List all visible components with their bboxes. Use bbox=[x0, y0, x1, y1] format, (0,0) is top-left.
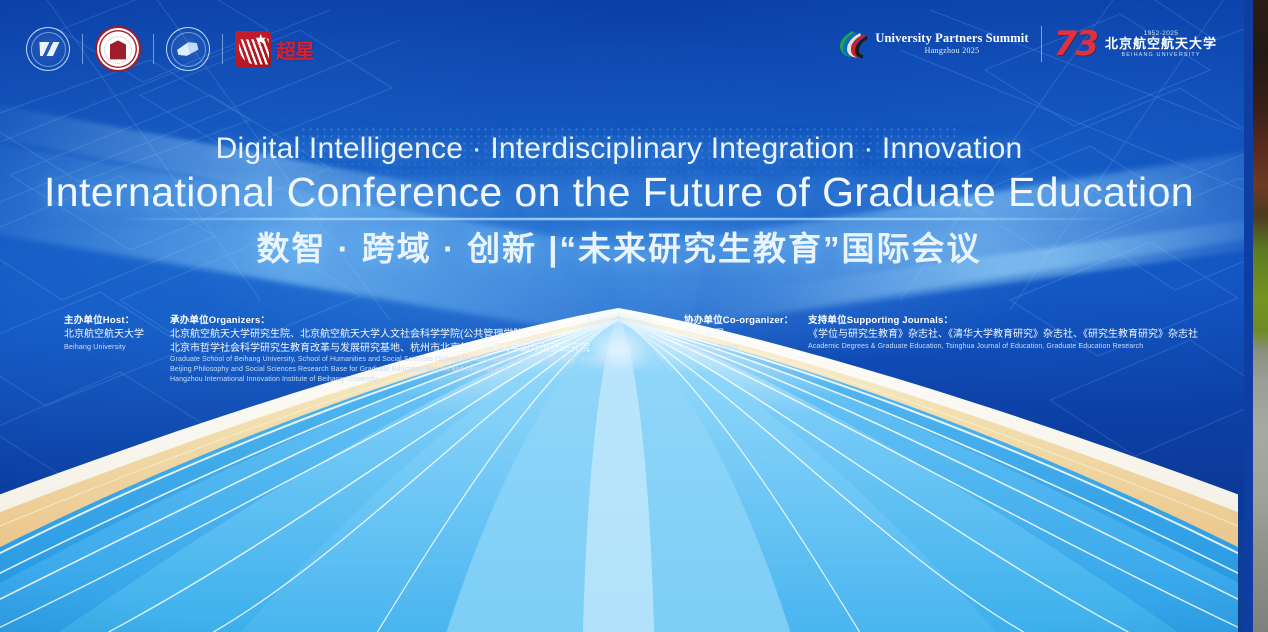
chaoxing-star-icon bbox=[235, 31, 271, 67]
stage-backdrop-board: 超星 University Partners Summit Hangzh bbox=[0, 0, 1253, 632]
organizers-en-line-2: Beijing Philosophy and Social Sciences R… bbox=[170, 365, 611, 375]
supporting-journals-heading: 支持单位Supporting Journals： bbox=[808, 312, 1198, 326]
host-heading: 主办单位Host： bbox=[64, 312, 144, 326]
summit-swoosh-icon bbox=[838, 29, 868, 59]
organizers-heading: 承办单位Organizers： bbox=[170, 312, 611, 326]
co-organizer-name-en: Chaoxing Group bbox=[684, 342, 794, 352]
organizers-cn-line-2: 北京市哲学社会科学研究生教育改革与发展研究基地、杭州市北京航空航天大学国际创新研… bbox=[170, 342, 611, 356]
logo-divider bbox=[1041, 26, 1042, 62]
university-name-en: BEIHANG UNIVERSITY bbox=[1105, 52, 1217, 58]
logo-divider bbox=[222, 34, 223, 64]
anniversary-number: 73 bbox=[1054, 27, 1097, 61]
conference-title-block: Digital Intelligence · Interdisciplinary… bbox=[0, 132, 1238, 270]
summit-subtitle: Hangzhou 2025 bbox=[875, 47, 1028, 55]
organizers-section: 承办单位Organizers： 北京航空航天大学研究生院、北京航空航天大学人文社… bbox=[170, 312, 611, 385]
host-name-en: Beihang University bbox=[64, 342, 144, 352]
logo-divider bbox=[153, 34, 154, 64]
graduate-school-seal-icon bbox=[95, 26, 141, 72]
beihang-university-seal-icon bbox=[26, 27, 70, 71]
conference-title-en: International Conference on the Future o… bbox=[0, 169, 1238, 216]
organizers-en-line-3: Hangzhou International Innovation Instit… bbox=[170, 375, 611, 385]
co-organizer-section: 协办单位Co-organizer： 超星集团 Chaoxing Group bbox=[684, 312, 794, 352]
chaoxing-wordmark: 超星 bbox=[276, 35, 314, 64]
anniversary-logo: 73 1952-2025 北京航空航天大学 BEIHANG UNIVERSITY bbox=[1054, 27, 1217, 61]
organizers-cn-line-1: 北京航空航天大学研究生院、北京航空航天大学人文社会科学学院(公共管理学院)、 bbox=[170, 328, 611, 342]
organizers-en-line-1: Graduate School of Beihang University, S… bbox=[170, 355, 611, 365]
chaoxing-logo: 超星 bbox=[235, 31, 314, 67]
humanities-social-sciences-seal-icon bbox=[166, 27, 210, 71]
co-organizer-name-cn: 超星集团 bbox=[684, 328, 794, 342]
conference-subtitle-en: Digital Intelligence · Interdisciplinary… bbox=[0, 132, 1238, 166]
conference-backdrop-photo: 超星 University Partners Summit Hangzh bbox=[0, 0, 1268, 632]
partner-logos-right: University Partners Summit Hangzhou 2025… bbox=[838, 26, 1217, 62]
host-name-cn: 北京航空航天大学 bbox=[64, 328, 144, 342]
supporting-journals-en: Academic Degrees & Graduate Education, T… bbox=[808, 342, 1198, 352]
supporting-journals-section: 支持单位Supporting Journals： 《学位与研究生教育》杂志社、《… bbox=[808, 312, 1198, 352]
summit-title: University Partners Summit bbox=[875, 32, 1028, 45]
host-section: 主办单位Host： 北京航空航天大学 Beihang University bbox=[64, 312, 144, 352]
supporting-journals-cn: 《学位与研究生教育》杂志社、《清华大学教育研究》杂志社、《研究生教育研究》杂志社 bbox=[808, 328, 1198, 342]
university-partners-summit-logo: University Partners Summit Hangzhou 2025 bbox=[838, 29, 1028, 59]
logo-divider bbox=[82, 34, 83, 64]
university-name-cn: 北京航空航天大学 bbox=[1105, 37, 1217, 52]
title-underline-rule bbox=[114, 218, 1124, 220]
conference-title-cn: 数智 · 跨域 · 创新 |“未来研究生教育”国际会议 bbox=[0, 222, 1238, 270]
outdoor-scene-edge bbox=[1244, 0, 1268, 632]
partner-logos-left: 超星 bbox=[26, 26, 314, 72]
co-organizer-heading: 协办单位Co-organizer： bbox=[684, 312, 794, 326]
